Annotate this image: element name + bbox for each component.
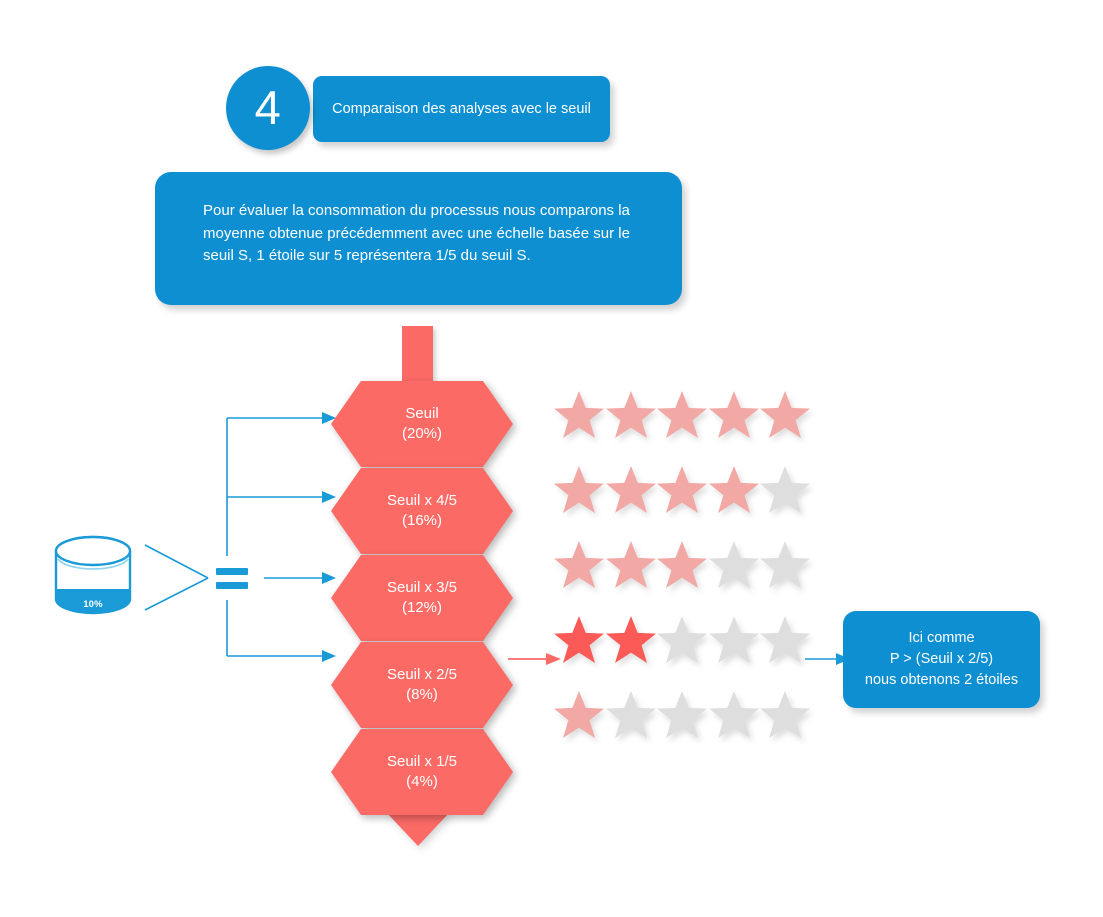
hexagon-shape xyxy=(331,729,513,815)
step-number-badge: 4 xyxy=(226,66,310,150)
star-empty-icon xyxy=(759,464,811,516)
data-source-cylinder: 10% xyxy=(52,533,134,617)
callout-line-1: Ici comme xyxy=(865,628,1018,649)
hexagon-shape xyxy=(331,555,513,641)
star-rating-grid xyxy=(553,389,808,764)
flow-stem-top xyxy=(402,326,433,387)
star-filled-icon xyxy=(759,389,811,441)
threshold-level-row[interactable]: Seuil x 4/5 (16%) xyxy=(331,468,513,554)
hexagon-shape xyxy=(331,381,513,467)
step-title-label: Comparaison des analyses avec le seuil xyxy=(332,100,591,118)
star-empty-icon xyxy=(656,689,708,741)
hexagon-shape xyxy=(331,642,513,728)
star-empty-icon xyxy=(708,539,760,591)
star-rating-row xyxy=(553,539,808,614)
callout-line-2: P > (Seuil x 2/5) xyxy=(865,649,1018,670)
threshold-level-row[interactable]: Seuil x 2/5 (8%) xyxy=(331,642,513,728)
star-rating-row xyxy=(553,464,808,539)
star-filled-icon xyxy=(656,464,708,516)
bracket-upper-stroke xyxy=(145,545,208,578)
star-filled-icon xyxy=(605,539,657,591)
result-callout-box: Ici comme P > (Seuil x 2/5) nous obtenon… xyxy=(843,611,1040,708)
star-rating-row xyxy=(553,389,808,464)
star-rating-row xyxy=(553,614,808,689)
star-filled-icon xyxy=(553,389,605,441)
bracket-lower-stroke xyxy=(145,578,208,610)
star-filled-icon xyxy=(605,614,657,666)
star-rating-row xyxy=(553,689,808,764)
intro-description-text: Pour évaluer la consommation du processu… xyxy=(203,202,630,264)
threshold-level-row[interactable]: Seuil (20%) xyxy=(331,381,513,467)
star-filled-icon xyxy=(708,389,760,441)
star-empty-icon xyxy=(759,689,811,741)
equals-operator-icon xyxy=(216,568,248,589)
hexagon-shape xyxy=(331,468,513,554)
step-number-label: 4 xyxy=(255,84,282,131)
diagram-canvas: 4 Comparaison des analyses avec le seuil… xyxy=(0,0,1103,917)
star-empty-icon xyxy=(759,614,811,666)
data-source-percent-label: 10% xyxy=(52,599,134,610)
threshold-scale-chain: Seuil (20%) Seuil x 4/5 (16%) Seuil x 3/… xyxy=(331,381,513,815)
star-empty-icon xyxy=(656,614,708,666)
callout-line-3: nous obtenons 2 étoiles xyxy=(865,670,1018,691)
star-filled-icon xyxy=(708,464,760,516)
star-empty-icon xyxy=(708,614,760,666)
intro-description-box: Pour évaluer la consommation du processu… xyxy=(155,172,682,305)
star-filled-icon xyxy=(553,689,605,741)
star-filled-icon xyxy=(553,539,605,591)
star-empty-icon xyxy=(708,689,760,741)
star-filled-icon xyxy=(656,539,708,591)
star-filled-icon xyxy=(656,389,708,441)
star-filled-icon xyxy=(605,464,657,516)
star-filled-icon xyxy=(553,464,605,516)
star-empty-icon xyxy=(605,689,657,741)
step-title-box: Comparaison des analyses avec le seuil xyxy=(313,76,610,142)
star-empty-icon xyxy=(759,539,811,591)
threshold-level-row[interactable]: Seuil x 3/5 (12%) xyxy=(331,555,513,641)
star-filled-icon xyxy=(553,614,605,666)
result-callout-text: Ici comme P > (Seuil x 2/5) nous obtenon… xyxy=(865,628,1018,691)
star-filled-icon xyxy=(605,389,657,441)
threshold-level-row[interactable]: Seuil x 1/5 (4%) xyxy=(331,729,513,815)
